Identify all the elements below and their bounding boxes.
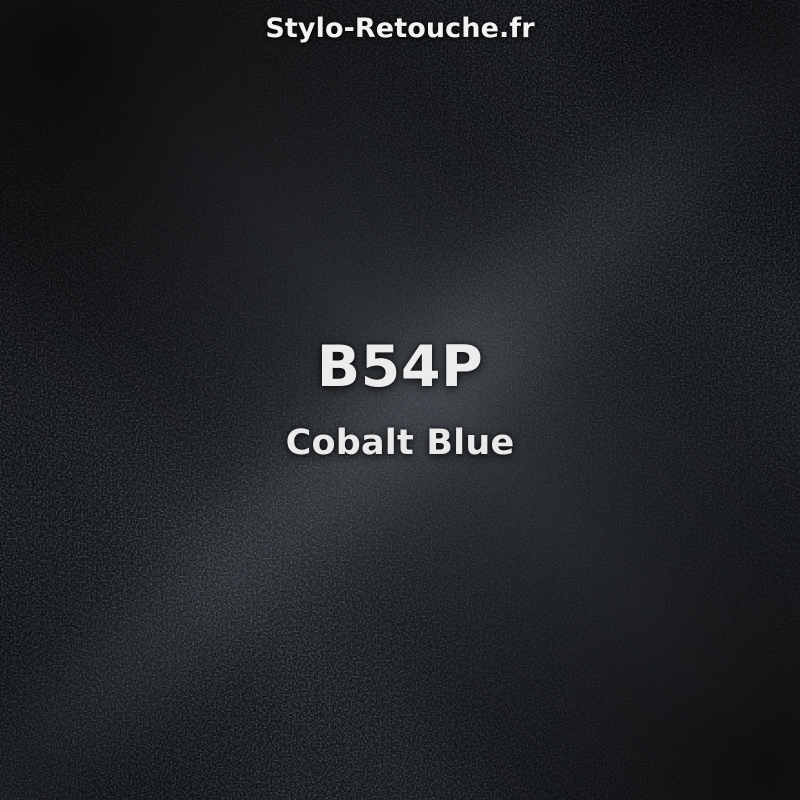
paint-color-name-label: Cobalt Blue bbox=[286, 426, 515, 461]
swatch-text-block: B54P Cobalt Blue bbox=[0, 0, 800, 800]
paint-code-label: B54P bbox=[317, 339, 484, 396]
paint-color-swatch-card: Stylo-Retouche.fr B54P Cobalt Blue bbox=[0, 0, 800, 800]
